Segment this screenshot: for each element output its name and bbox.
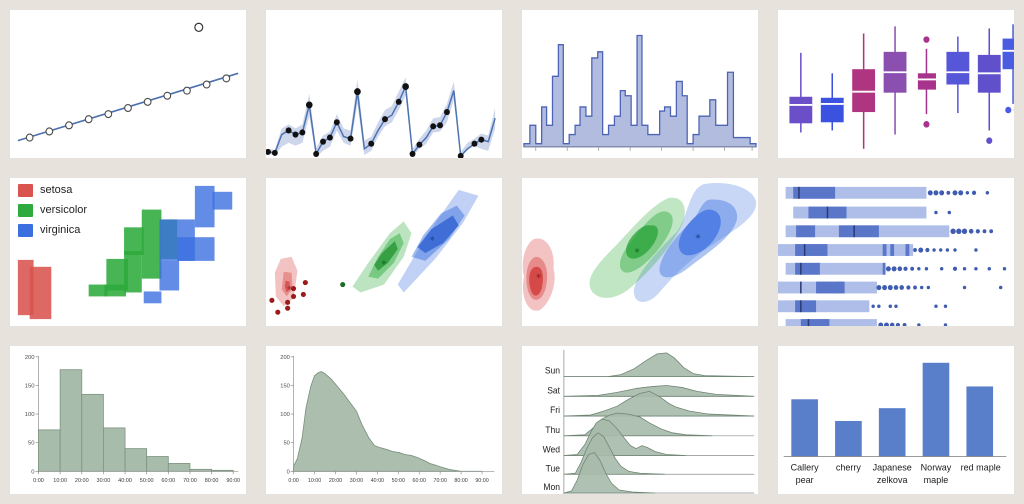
panel-iris-hist2d[interactable]: setosa versicolor virginica — [10, 178, 246, 326]
cell-8 — [768, 168, 1024, 336]
svg-text:60:00: 60:00 — [161, 478, 175, 484]
svg-text:Wed: Wed — [543, 444, 561, 454]
ridgeline-svg: Sun Sat Fri Thu Wed Tue Mon — [522, 346, 758, 494]
legend-swatch-versicolor — [18, 204, 33, 217]
svg-text:40:00: 40:00 — [118, 478, 132, 484]
tree-bars — [791, 363, 993, 457]
svg-text:✳: ✳ — [695, 233, 701, 241]
panel-line-markers[interactable] — [10, 10, 246, 158]
legend-item-versicolor[interactable]: versicolor — [18, 204, 87, 217]
svg-text:10:00: 10:00 — [53, 478, 67, 484]
svg-text:pear: pear — [796, 475, 814, 485]
svg-text:80:00: 80:00 — [454, 478, 467, 484]
versicolor-point — [340, 282, 345, 287]
cell-7: ✳ ✳ ✳ — [512, 168, 768, 336]
svg-text:50: 50 — [283, 441, 289, 447]
svg-text:Mon: Mon — [543, 482, 560, 492]
svg-text:50:00: 50:00 — [392, 478, 405, 484]
svg-text:90:00: 90:00 — [226, 478, 240, 484]
panel-ridgeline[interactable]: Sun Sat Fri Thu Wed Tue Mon — [522, 346, 758, 494]
svg-text:Callery: Callery — [791, 462, 819, 472]
y-axis — [36, 356, 39, 471]
boxen-row-4 — [778, 244, 978, 256]
cell-11: Sun Sat Fri Thu Wed Tue Mon — [512, 336, 768, 504]
legend-item-setosa[interactable]: setosa — [18, 184, 87, 197]
svg-text:90:00: 90:00 — [475, 478, 488, 484]
svg-text:50: 50 — [28, 441, 35, 447]
cell-10: 200150 10050 0 — [256, 336, 512, 504]
y-tick-labels: 200150 10050 0 — [25, 355, 36, 475]
panel-boxplots[interactable] — [778, 10, 1014, 158]
cell-1 — [0, 0, 256, 168]
ridgeline-densities — [564, 353, 754, 493]
svg-text:✳: ✳ — [634, 247, 640, 255]
legend-label-virginica: virginica — [40, 225, 80, 236]
cell-2 — [256, 0, 512, 168]
setosa-density: ✳ — [523, 238, 555, 310]
tree-bar-labels: Callery pear cherry Japanese zelkova Nor… — [791, 462, 1001, 485]
kde-area-fill — [294, 372, 482, 472]
tree-bars-svg: Callery pear cherry Japanese zelkova Nor… — [778, 346, 1014, 494]
svg-text:10:00: 10:00 — [308, 478, 321, 484]
cell-4 — [768, 0, 1024, 168]
svg-text:✳: ✳ — [429, 235, 435, 243]
svg-text:Fri: Fri — [550, 405, 560, 415]
legend-label-setosa: setosa — [40, 185, 72, 196]
ridge-sat — [564, 385, 754, 396]
panel-kde-angular[interactable]: ✳ ✳ ✳ — [266, 178, 502, 326]
svg-text:0: 0 — [287, 469, 290, 475]
svg-text:150: 150 — [280, 383, 289, 389]
svg-text:Sun: Sun — [545, 365, 560, 375]
cell-12: Callery pear cherry Japanese zelkova Nor… — [768, 336, 1024, 504]
panel-step-histogram[interactable] — [522, 10, 758, 158]
ridge-thu — [564, 413, 712, 436]
svg-text:red maple: red maple — [961, 462, 1001, 472]
boxen-row-1 — [786, 187, 989, 199]
boxen-row-6 — [778, 282, 1002, 294]
virginica-contours: ✳ — [398, 190, 479, 293]
iris-legend: setosa versicolor virginica — [18, 184, 87, 244]
svg-text:cherry: cherry — [836, 462, 861, 472]
boxplots-overlay-svg — [778, 10, 1014, 158]
svg-text:Sat: Sat — [547, 385, 560, 395]
outlier-marker — [195, 23, 203, 31]
x-tick-labels: 0:00 10:00 20:00 30:00 40:00 50:00 60:00… — [33, 478, 240, 484]
svg-text:40:00: 40:00 — [371, 478, 384, 484]
legend-swatch-virginica — [18, 224, 33, 237]
svg-text:20:00: 20:00 — [75, 478, 89, 484]
svg-text:100: 100 — [25, 412, 36, 418]
svg-text:Tue: Tue — [546, 463, 561, 473]
svg-text:Thu: Thu — [545, 425, 560, 435]
boxen-row-7 — [778, 300, 947, 312]
legend-item-virginica[interactable]: virginica — [18, 224, 87, 237]
plot-grid: setosa versicolor virginica ✳ — [0, 0, 1024, 504]
svg-text:80:00: 80:00 — [205, 478, 219, 484]
svg-text:150: 150 — [25, 383, 36, 389]
y-tick-labels: 200150 10050 0 — [280, 355, 289, 476]
svg-text:60:00: 60:00 — [413, 478, 426, 484]
svg-text:100: 100 — [280, 412, 289, 418]
x-tick-labels: 0:00 10:00 20:00 30:00 40:00 50:00 60:00… — [288, 478, 488, 484]
ridgeline-row-labels: Sun Sat Fri Thu Wed Tue Mon — [543, 365, 561, 492]
spiky-band-svg — [266, 10, 502, 158]
step-histogram-svg — [522, 10, 758, 158]
x-ticks — [294, 471, 482, 474]
setosa-bins — [18, 260, 51, 319]
svg-text:20:00: 20:00 — [329, 478, 342, 484]
histogram-bars — [39, 370, 234, 472]
legend-label-versicolor: versicolor — [40, 205, 87, 216]
panel-tree-bars[interactable]: Callery pear cherry Japanese zelkova Nor… — [778, 346, 1014, 494]
svg-text:30:00: 30:00 — [350, 478, 363, 484]
legend-swatch-setosa — [18, 184, 33, 197]
panel-kde-smooth[interactable]: ✳ ✳ ✳ — [522, 178, 758, 326]
confidence-band — [268, 77, 495, 157]
svg-text:zelkova: zelkova — [877, 475, 908, 485]
svg-text:✳: ✳ — [381, 259, 387, 267]
svg-text:200: 200 — [280, 355, 289, 361]
panel-histogram[interactable]: 200150 10050 0 — [10, 346, 246, 494]
boxen-row-2 — [793, 207, 951, 219]
svg-text:50:00: 50:00 — [140, 478, 154, 484]
x-ticks — [39, 471, 234, 474]
cell-9: 200150 10050 0 — [0, 336, 256, 504]
panel-kde-area[interactable]: 200150 10050 0 — [266, 346, 502, 494]
cell-6: ✳ ✳ ✳ — [256, 168, 512, 336]
kde-angular-svg: ✳ ✳ ✳ — [266, 178, 502, 326]
cell-3 — [512, 0, 768, 168]
svg-text:70:00: 70:00 — [434, 478, 447, 484]
histogram-svg: 200150 10050 0 — [10, 346, 246, 494]
boxen-svg — [778, 178, 1014, 326]
panel-spiky-band[interactable] — [266, 10, 502, 158]
svg-text:200: 200 — [25, 355, 36, 361]
svg-text:Japanese: Japanese — [873, 462, 912, 472]
svg-text:maple: maple — [924, 475, 949, 485]
svg-text:70:00: 70:00 — [183, 478, 197, 484]
line-markers-svg — [10, 10, 246, 158]
svg-text:0: 0 — [31, 469, 35, 475]
panel-boxen[interactable] — [778, 178, 1014, 326]
boxen-row-3 — [786, 225, 993, 237]
kde-area-svg: 200150 10050 0 — [266, 346, 502, 494]
kde-smooth-svg: ✳ ✳ ✳ — [522, 178, 758, 326]
svg-text:0:00: 0:00 — [33, 478, 44, 484]
svg-text:Norway: Norway — [921, 462, 952, 472]
boxen-row-5 — [786, 263, 1007, 275]
box-8 — [1003, 24, 1014, 113]
y-axis — [291, 356, 294, 471]
step-area — [524, 36, 756, 147]
svg-text:✳: ✳ — [536, 273, 542, 281]
cell-5: setosa versicolor virginica — [0, 168, 256, 336]
svg-text:0:00: 0:00 — [288, 478, 298, 484]
svg-text:30:00: 30:00 — [97, 478, 111, 484]
ridge-sun — [564, 353, 754, 377]
boxen-row-8 — [786, 319, 948, 326]
